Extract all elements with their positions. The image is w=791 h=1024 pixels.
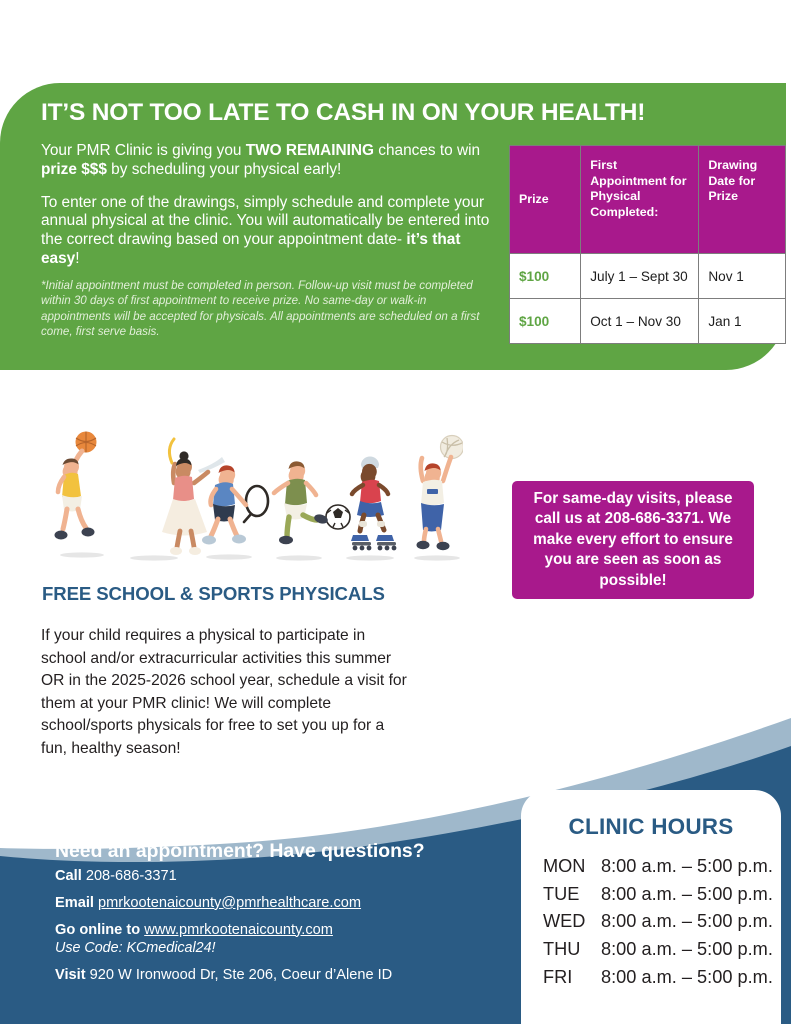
- sneaker-icon: [202, 536, 216, 545]
- cleat-icon: [279, 536, 293, 545]
- promo-headline: IT’S NOT TOO LATE TO CASH IN ON YOUR HEA…: [41, 99, 645, 127]
- promo-p1-text-2: chances to win: [374, 142, 480, 159]
- ballet-shoe-icon: [170, 547, 182, 555]
- prize-table-header-prize: Prize: [510, 146, 581, 254]
- shadow-icon: [414, 555, 460, 560]
- shadow-icon: [60, 552, 104, 557]
- shadow-icon: [276, 555, 322, 560]
- hair-bun-icon: [179, 451, 188, 460]
- clinic-hours-card: CLINIC HOURS MON 8:00 a.m. – 5:00 p.m. T…: [521, 790, 781, 1024]
- volleyball-player-figure: [417, 436, 464, 551]
- same-day-visits-text: For same-day visits, please call us at 2…: [522, 489, 744, 591]
- prize-window: Oct 1 – Nov 30: [581, 299, 699, 344]
- sports-kids-illustration: [33, 425, 463, 570]
- promo-p1-text-3: by scheduling your physical early!: [107, 161, 341, 178]
- contact-use-code: Use Code: KCmedical24!: [55, 940, 485, 957]
- promo-paragraph-2: To enter one of the drawings, simply sch…: [41, 194, 493, 269]
- tennis-racket-icon: [246, 486, 268, 516]
- clinic-hours-title: CLINIC HOURS: [521, 814, 781, 840]
- clinic-hours-time: 8:00 a.m. – 5:00 p.m.: [601, 964, 773, 992]
- soccer-player-figure: [274, 461, 350, 544]
- clinic-hours-day: THU: [543, 936, 601, 964]
- list-item: TUE 8:00 a.m. – 5:00 p.m.: [543, 881, 781, 909]
- contact-email-line: Email pmrkootenaicounty@pmrhealthcare.co…: [55, 895, 485, 913]
- clinic-hours-day: MON: [543, 853, 601, 881]
- contact-address-line: Visit 920 W Ironwood Dr, Ste 206, Coeur …: [55, 967, 485, 985]
- shadow-icon: [130, 555, 178, 560]
- contact-online-line: Go online to www.pmrkootenaicounty.com U…: [55, 922, 485, 958]
- promo-p2-text-2: !: [75, 250, 79, 267]
- prize-amount: $100: [510, 299, 581, 344]
- clinic-hours-time: 8:00 a.m. – 5:00 p.m.: [601, 881, 773, 909]
- contact-call-label: Call: [55, 868, 82, 884]
- clinic-hours-day: FRI: [543, 964, 601, 992]
- promo-p1-bold-1: TWO REMAINING: [246, 142, 374, 159]
- promo-p1-bold-2: prize $$$: [41, 161, 107, 178]
- same-day-visits-callout: For same-day visits, please call us at 2…: [512, 481, 754, 599]
- prize-amount: $100: [510, 254, 581, 299]
- promo-disclaimer: *Initial appointment must be completed i…: [41, 278, 489, 339]
- prize-window: July 1 – Sept 30: [581, 254, 699, 299]
- promo-panel: IT’S NOT TOO LATE TO CASH IN ON YOUR HEA…: [0, 83, 786, 370]
- prize-table: Prize First Appointment for Physical Com…: [509, 145, 786, 344]
- prize-table-header-row: Prize First Appointment for Physical Com…: [510, 146, 786, 254]
- physicals-section-title: FREE SCHOOL & SPORTS PHYSICALS: [42, 583, 385, 605]
- rollerblade-icon: [376, 535, 394, 541]
- list-item: WED 8:00 a.m. – 5:00 p.m.: [543, 908, 781, 936]
- shoe-icon: [417, 541, 430, 549]
- clinic-hours-day: WED: [543, 908, 601, 936]
- clinic-hours-day: TUE: [543, 881, 601, 909]
- rollerblade-icon: [351, 535, 369, 541]
- list-item: FRI 8:00 a.m. – 5:00 p.m.: [543, 964, 781, 992]
- basketball-player-figure: [55, 432, 97, 540]
- contact-phone-value: 208-686-3371: [86, 868, 177, 884]
- prize-table-header-appointment: First Appointment for Physical Completed…: [581, 146, 699, 254]
- contact-email-label: Email: [55, 895, 94, 911]
- prize-drawing-date: Nov 1: [699, 254, 786, 299]
- clinic-hours-list: MON 8:00 a.m. – 5:00 p.m. TUE 8:00 a.m. …: [521, 853, 781, 991]
- contact-online-label: Go online to: [55, 922, 140, 938]
- promo-paragraph-1: Your PMR Clinic is giving you TWO REMAIN…: [41, 142, 493, 180]
- contact-phone-line: Call 208-686-3371: [55, 868, 485, 886]
- tennis-player-figure: [202, 465, 268, 544]
- clinic-hours-time: 8:00 a.m. – 5:00 p.m.: [601, 936, 773, 964]
- clinic-hours-time: 8:00 a.m. – 5:00 p.m.: [601, 908, 773, 936]
- promo-p1-text-1: Your PMR Clinic is giving you: [41, 142, 246, 159]
- table-row: $100 July 1 – Sept 30 Nov 1: [510, 254, 786, 299]
- contact-heading: Need an appointment? Have questions?: [55, 840, 485, 863]
- sneaker-icon: [82, 528, 95, 537]
- shadow-icon: [206, 554, 252, 559]
- sneaker-icon: [55, 531, 68, 540]
- list-item: THU 8:00 a.m. – 5:00 p.m.: [543, 936, 781, 964]
- shoe-icon: [437, 542, 450, 550]
- contact-visit-label: Visit: [55, 967, 86, 983]
- list-item: MON 8:00 a.m. – 5:00 p.m.: [543, 853, 781, 881]
- rollerblader-figure: [351, 457, 396, 551]
- contact-address-value: 920 W Ironwood Dr, Ste 206, Coeur d’Alen…: [90, 967, 393, 983]
- clinic-hours-time: 8:00 a.m. – 5:00 p.m.: [601, 853, 773, 881]
- flyer-page: IT’S NOT TOO LATE TO CASH IN ON YOUR HEA…: [0, 0, 791, 1024]
- contact-website-link[interactable]: www.pmrkootenaicounty.com: [144, 922, 333, 938]
- shadow-icon: [346, 555, 394, 560]
- sneaker-icon: [232, 535, 246, 544]
- prize-table-header-drawing: Drawing Date for Prize: [699, 146, 786, 254]
- promo-body: Your PMR Clinic is giving you TWO REMAIN…: [41, 142, 493, 283]
- contact-email-link[interactable]: pmrkootenaicounty@pmrhealthcare.com: [98, 895, 361, 911]
- ballet-shoe-icon: [189, 547, 201, 555]
- contact-block: Need an appointment? Have questions? Cal…: [55, 840, 485, 994]
- table-row: $100 Oct 1 – Nov 30 Jan 1: [510, 299, 786, 344]
- prize-drawing-date: Jan 1: [699, 299, 786, 344]
